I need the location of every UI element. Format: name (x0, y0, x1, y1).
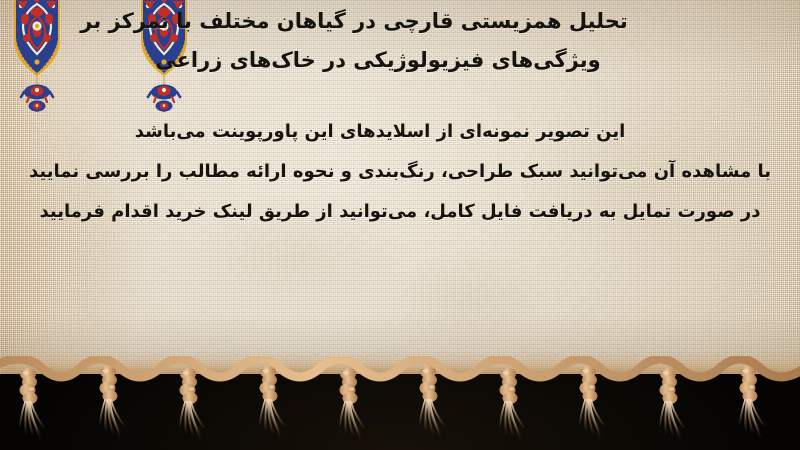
slide-title: تحلیل همزیستی قارچی در گیاهان مختلف با ت… (12, 2, 782, 80)
slide-body-line-3: در صورت تمایل به دریافت فایل کامل، می‌تو… (0, 192, 800, 232)
slide-title-line-2: ویژگی‌های فیزیولوژیکی در خاک‌های زراعی (12, 41, 782, 80)
slide-body: این تصویر نمونه‌ای از اسلایدهای این پاور… (0, 112, 800, 232)
slide-body-line-1: این تصویر نمونه‌ای از اسلایدهای این پاور… (0, 112, 800, 152)
slide-canvas: تحلیل همزیستی قارچی در گیاهان مختلف با ت… (0, 0, 800, 450)
slide-title-line-1: تحلیل همزیستی قارچی در گیاهان مختلف با ت… (12, 2, 782, 41)
slide-text-layer: تحلیل همزیستی قارچی در گیاهان مختلف با ت… (0, 0, 800, 450)
slide-body-line-2: با مشاهده آن می‌توانید سبک طراحی، رنگ‌بن… (0, 152, 800, 192)
